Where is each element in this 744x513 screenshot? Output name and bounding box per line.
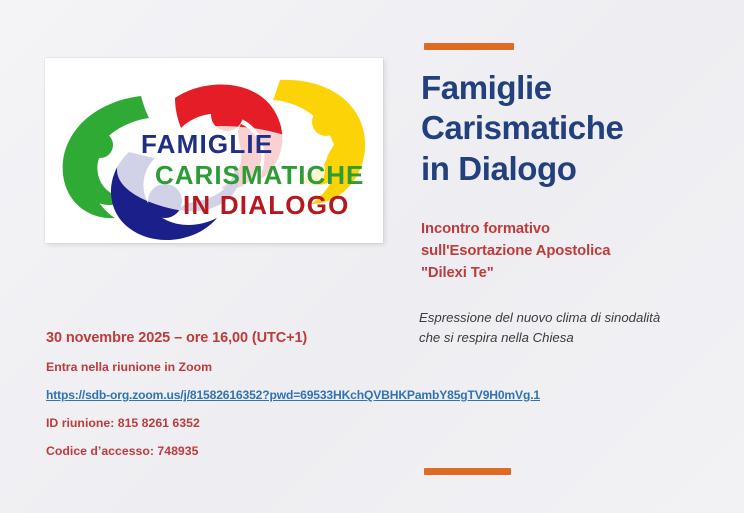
page-subtitle-line-1: Incontro formativo <box>421 218 731 240</box>
accent-rule-top <box>424 43 514 50</box>
page-title-line-1: Famiglie <box>421 68 726 108</box>
logo-card: FAMIGLIE CARISMATICHE IN DIALOGO <box>45 58 383 243</box>
logo-text-line3: IN DIALOGO <box>183 190 350 220</box>
meeting-id: ID riunione: 815 8261 6352 <box>46 416 606 430</box>
page-tagline-line-2: che si respira nella Chiesa <box>419 328 734 348</box>
page-title-line-3: in Dialogo <box>421 149 726 189</box>
page-title: Famiglie Carismatiche in Dialogo <box>421 68 726 189</box>
slide-canvas: FAMIGLIE CARISMATICHE IN DIALOGO 30 nove… <box>0 0 744 513</box>
meeting-passcode: Codice d’accesso: 748935 <box>46 444 606 458</box>
page-subtitle-line-2: sull'Esortazione Apostolica <box>421 240 731 262</box>
logo-text-line2: CARISMATICHE <box>155 160 364 190</box>
join-label: Entra nella riunione in Zoom <box>46 360 606 374</box>
page-tagline-line-1: Espressione del nuovo clima di sinodalit… <box>419 308 734 328</box>
zoom-meeting-link[interactable]: https://sdb-org.zoom.us/j/81582616352?pw… <box>46 388 540 402</box>
page-title-line-2: Carismatiche <box>421 108 726 148</box>
logo-text-line1: FAMIGLIE <box>141 129 273 159</box>
page-tagline: Espressione del nuovo clima di sinodalit… <box>419 308 734 349</box>
event-details-block: 30 novembre 2025 – ore 16,00 (UTC+1) Ent… <box>46 330 606 458</box>
logo-graphic: FAMIGLIE CARISMATICHE IN DIALOGO <box>45 58 383 243</box>
page-subtitle-line-3: "Dilexi Te" <box>421 262 731 284</box>
page-subtitle: Incontro formativo sull'Esortazione Apos… <box>421 218 731 285</box>
accent-rule-bottom <box>424 468 511 475</box>
